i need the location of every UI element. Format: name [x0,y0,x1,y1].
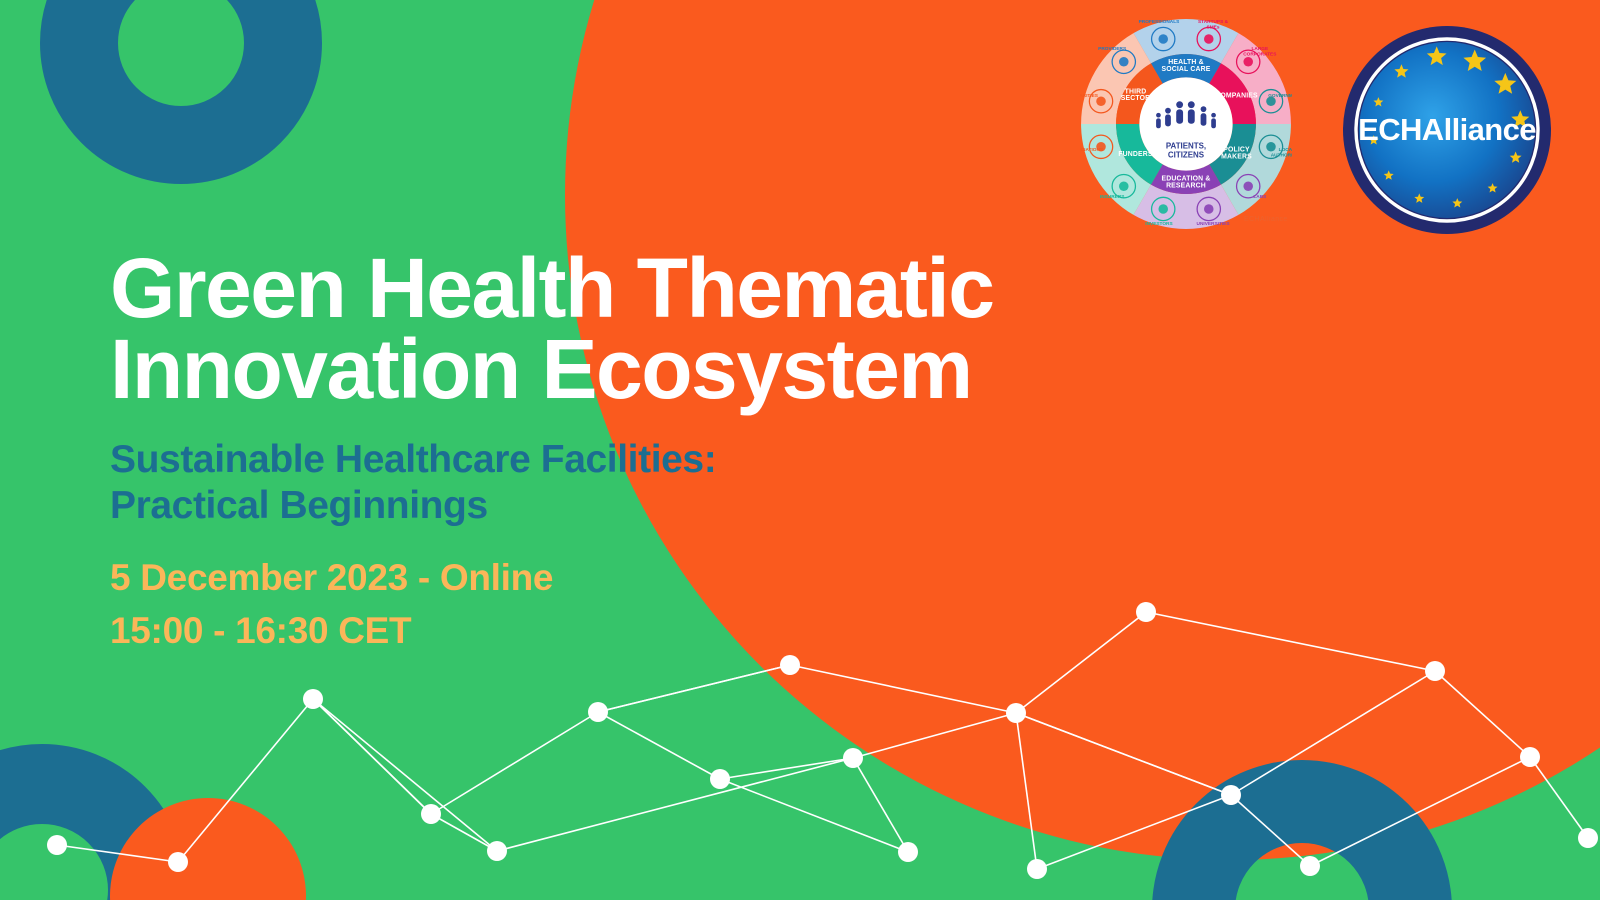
orange-circle-bottom-left [110,798,306,900]
hospital-icon [1119,57,1129,67]
family-figure-body [1165,115,1171,127]
decorative-ring-top-left [40,0,322,184]
event-banner: Green Health Thematic Innovation Ecosyst… [0,0,1600,900]
wheel-segment-label: FUNDERS [1118,151,1153,158]
person-icon [1158,34,1168,44]
network-link [853,758,908,852]
family-figure-body [1201,113,1207,125]
decorative-ring-bottom-right [1152,760,1452,900]
network-node [1300,856,1320,876]
civic-building-icon [1266,142,1276,152]
banner-copy: Green Health Thematic Innovation Ecosyst… [110,248,1230,658]
wheel-segment-label: EDUCATION &RESEARCH [1162,176,1211,190]
network-link [720,758,853,779]
family-figure-body [1188,109,1195,123]
family-figure-body [1211,118,1216,128]
network-node [303,689,323,709]
network-link [1016,713,1037,869]
wheel-segment-label: THIRDSECTOR [1121,88,1150,102]
echalliance-wordmark: ECHAlliance [1358,112,1536,147]
wheel-actor-label: CHARITIES [1080,93,1098,99]
wheel-watermark: ECHAlliance [1244,216,1288,223]
page-subtitle: Sustainable Healthcare Facilities: Pract… [110,437,1230,528]
ecosystem-wheel-diagram: HEALTH &SOCIAL CARECOMPANIESPOLICYMAKERS… [1080,18,1292,230]
family-figure-head [1211,113,1216,118]
network-node [710,769,730,789]
network-link [57,845,178,862]
network-link [598,712,720,779]
network-node [1221,785,1241,805]
network-link [598,665,790,712]
network-link [497,758,853,851]
network-link [1037,795,1231,869]
wheel-actor-label: ASSOCIATIONS [1080,147,1103,153]
echalliance-logo[interactable]: ECHAlliance [1334,24,1560,236]
family-figure-head [1176,101,1183,108]
network-link [1231,671,1435,795]
network-link [313,699,431,814]
wheel-segment-label: HEALTH &SOCIAL CARE [1162,59,1211,73]
network-link [790,665,1016,713]
network-link [598,665,790,712]
wheel-center-label: PATIENTS,CITIZENS [1166,141,1206,159]
graduation-cap-icon [1204,204,1214,214]
network-link [178,699,313,862]
network-link [313,699,497,851]
network-link [1530,757,1588,838]
wheel-actor-label: PROVIDERS [1098,46,1126,52]
network-node [487,841,507,861]
family-figure-body [1176,109,1183,123]
wheel-actor-label: LABS [1253,194,1266,200]
network-link [720,779,908,852]
bank-icon [1158,204,1168,214]
network-link [1435,671,1530,757]
family-figure-body [1156,118,1161,128]
network-node [898,842,918,862]
network-link [431,814,497,851]
family-figure-head [1188,101,1195,108]
wheel-actor-label: INVESTORS [1145,221,1172,227]
network-node [1578,828,1598,848]
family-figure-head [1156,113,1161,118]
office-building-icon [1243,57,1253,67]
network-node [47,835,67,855]
wheel-actor-label: INSURERS [1100,194,1125,200]
network-node [1006,703,1026,723]
shield-icon [1119,181,1129,191]
wheel-segment-label: POLICYMAKERS [1221,147,1252,161]
network-node [843,748,863,768]
network-link [313,699,431,814]
rocket-icon [1204,34,1214,44]
event-datetime: 5 December 2023 - Online 15:00 - 16:30 C… [110,551,1230,658]
laptop-icon [1243,181,1253,191]
network-node [1520,747,1540,767]
page-title: Green Health Thematic Innovation Ecosyst… [110,248,1230,409]
network-link [853,713,1016,758]
network-link [431,712,598,814]
family-figure-head [1201,106,1207,112]
network-node [421,804,441,824]
wheel-actor-label: GOVERNMENTS [1268,93,1292,99]
network-link [1016,713,1231,795]
decorative-ring-bottom-left [0,744,188,900]
wheel-actor-label: PROFESSIONALS [1139,19,1180,25]
network-link [1310,757,1530,866]
family-figure-head [1165,108,1171,114]
network-link [1231,795,1310,866]
network-link [1016,713,1231,795]
network-node [1027,859,1047,879]
network-node [168,852,188,872]
network-node [588,702,608,722]
wheel-actor-label: UNIVERSITIES [1197,221,1230,227]
network-node [1425,661,1445,681]
network-node [780,655,800,675]
